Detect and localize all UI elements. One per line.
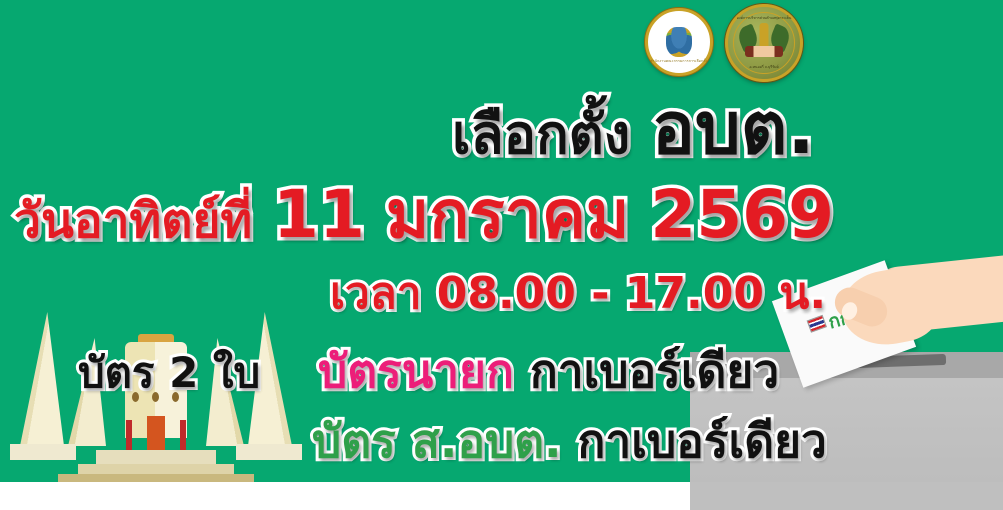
ect-seal-ring-text: สำนักงานคณะกรรมการการเลือกตั้ง [648,59,710,64]
bottom-white-strip [0,482,690,510]
time-line: เวลา 08.00 - 17.00 น. [330,272,826,316]
monument-pillar-left [126,420,132,450]
monument-wing-left-outer [20,312,64,446]
mayor-ballot-label: บัตรนายก [318,344,514,398]
ballot-count-label: บัตร 2 ใบ [78,352,260,394]
sao-seal-bottom-text: อ.หนองกี่ จ.บุรีรัมย์ [728,64,800,70]
sao-torch [760,23,769,47]
headline-prefix: เลือกตั้ง [452,103,630,166]
council-ballot-instruction: กาเบอร์เดียว [578,414,827,468]
council-ballot-line: บัตร ส.อบต. กาเบอร์เดียว [312,418,827,464]
monument-door [147,416,165,450]
mayor-ballot-instruction: กาเบอร์เดียว [530,344,779,398]
ect-crest [666,27,692,57]
mayor-ballot-line: บัตรนายก กาเบอร์เดียว [318,348,779,394]
monument-pillar-right [180,420,186,450]
date-day: 11 [273,176,365,253]
date-line: วันอาทิตย์ที่ 11 มกราคม 2569 [14,182,834,248]
monument-pedestal-right [236,444,302,460]
date-year: 2569 [650,176,834,253]
sao-handshake [745,46,783,57]
sao-seal-top-text: องค์การบริหารส่วนตำบลทุ่งกระเต็น [728,15,800,21]
date-month: มกราคม [386,176,630,253]
monument-pedestal-left [10,444,76,460]
sao-seal-icon: องค์การบริหารส่วนตำบลทุ่งกระเต็น อ.หนองก… [725,4,803,82]
date-prefix: วันอาทิตย์ที่ [14,193,252,249]
council-ballot-label: บัตร ส.อบต. [312,414,562,468]
ect-seal-icon: สำนักงานคณะกรรมการการเลือกตั้ง [645,8,713,76]
headline-main: อบต. [652,86,815,170]
monument-base-lower [58,474,254,482]
headline: เลือกตั้ง อบต. [452,92,815,164]
election-poster: กกต สำนักงานคณะกรรมการการเลือกตั้ง องค์ก… [0,0,1003,510]
